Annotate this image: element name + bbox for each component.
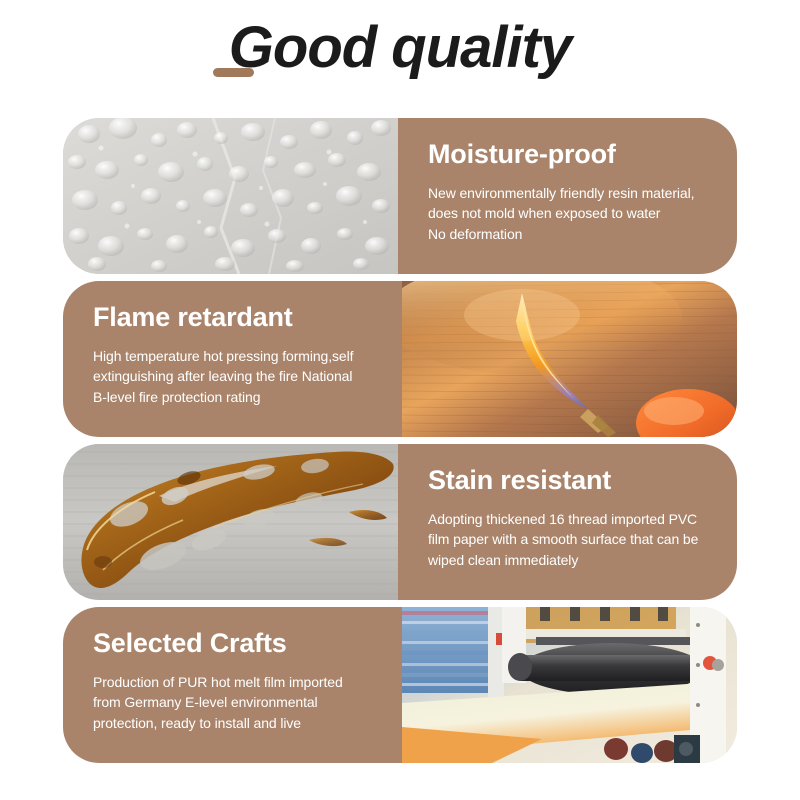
feature-body-line: B-level fire protection rating [93,387,376,408]
flame-lighter-photo [402,281,737,437]
feature-row: Flame retardant High temperature hot pre… [63,281,737,437]
feature-body-line: New environmentally friendly resin mater… [428,183,711,204]
page-header: Good quality [0,18,800,79]
water-droplets-photo [63,118,398,274]
feature-heading: Flame retardant [93,303,376,333]
factory-laminating-machine-photo [402,607,737,763]
feature-heading: Selected Crafts [93,629,376,659]
feature-row: Moisture-proof New environmentally frien… [63,118,737,274]
feature-body-line: Production of PUR hot melt film imported [93,672,376,693]
feature-heading: Stain resistant [428,466,711,496]
feature-body-line: Adopting thickened 16 thread imported PV… [428,509,711,530]
feature-body-line: does not mold when exposed to water [428,203,711,224]
feature-list: Moisture-proof New environmentally frien… [63,118,737,770]
feature-body-line: film paper with a smooth surface that ca… [428,529,711,550]
feature-body-line: protection, ready to install and live [93,713,376,734]
page-title: Good quality [0,18,800,79]
feature-body-line: No deformation [428,224,711,245]
feature-body-line: High temperature hot pressing forming,se… [93,346,376,367]
feature-panel: Moisture-proof New environmentally frien… [398,118,737,274]
feature-panel: Flame retardant High temperature hot pre… [63,281,402,437]
feature-row: Stain resistant Adopting thickened 16 th… [63,444,737,600]
feature-body-line: wiped clean immediately [428,550,711,571]
feature-body-line: from Germany E-level environmental [93,692,376,713]
infographic-page: Good quality [0,0,800,800]
feature-body-line: extinguishing after leaving the fire Nat… [93,366,376,387]
liquid-stain-photo [63,444,398,600]
title-underline-accent [213,68,254,77]
feature-panel: Stain resistant Adopting thickened 16 th… [398,444,737,600]
feature-heading: Moisture-proof [428,140,711,170]
feature-panel: Selected Crafts Production of PUR hot me… [63,607,402,763]
feature-row: Selected Crafts Production of PUR hot me… [63,607,737,763]
